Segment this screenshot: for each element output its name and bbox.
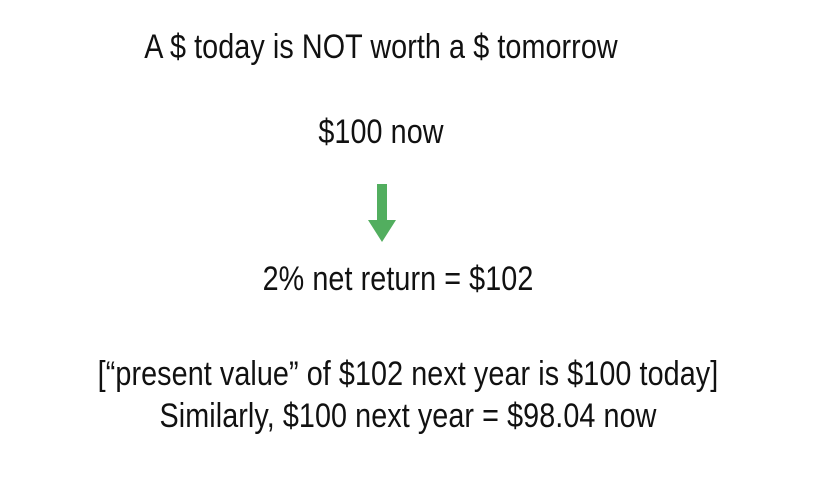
net-return-text: 2% net return = $102 bbox=[263, 262, 534, 296]
arrow-polygon bbox=[368, 184, 396, 242]
similarly-note: Similarly, $100 next year = $98.04 now bbox=[160, 399, 657, 433]
slide-title: A $ today is NOT worth a $ tomorrow bbox=[144, 30, 617, 64]
down-arrow-shape bbox=[364, 184, 400, 244]
present-value-note: [“present value” of $102 next year is $1… bbox=[98, 357, 719, 391]
slide-canvas: A $ today is NOT worth a $ tomorrow $100… bbox=[0, 0, 826, 484]
principal-amount-text: $100 now bbox=[318, 115, 443, 149]
down-arrow-icon bbox=[364, 184, 400, 244]
